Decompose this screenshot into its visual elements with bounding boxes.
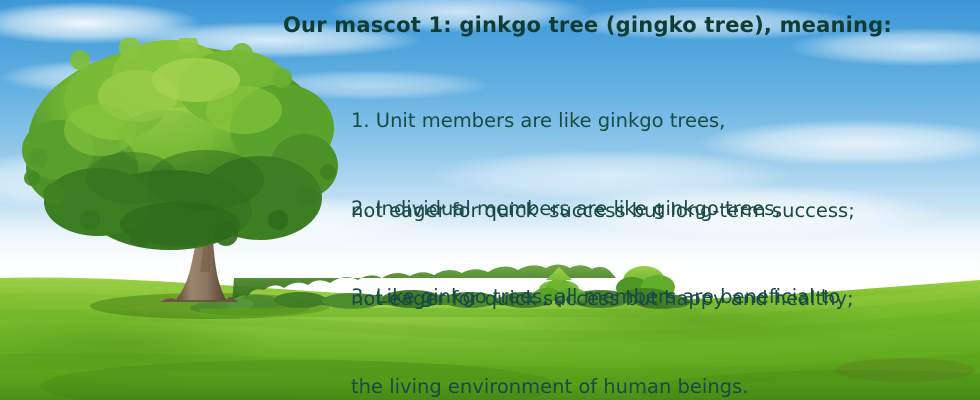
mascot-banner: Our mascot 1: ginkgo tree (gingko tree),…	[0, 0, 980, 400]
meaning-item-3-line-1: 3. Like ginkgo trees, all members are be…	[351, 282, 840, 312]
meaning-item-1-line-1: 1. Unit members are like ginkgo trees,	[351, 106, 855, 136]
text-content: Our mascot 1: ginkgo tree (gingko tree),…	[0, 0, 980, 400]
meaning-item-3: 3. Like ginkgo trees, all members are be…	[351, 222, 840, 400]
page-title: Our mascot 1: ginkgo tree (gingko tree),…	[283, 13, 892, 37]
meaning-item-2-line-1: 2. Individual members are like ginkgo tr…	[351, 194, 854, 224]
meaning-item-3-line-2: the living environment of human beings.	[351, 372, 840, 400]
